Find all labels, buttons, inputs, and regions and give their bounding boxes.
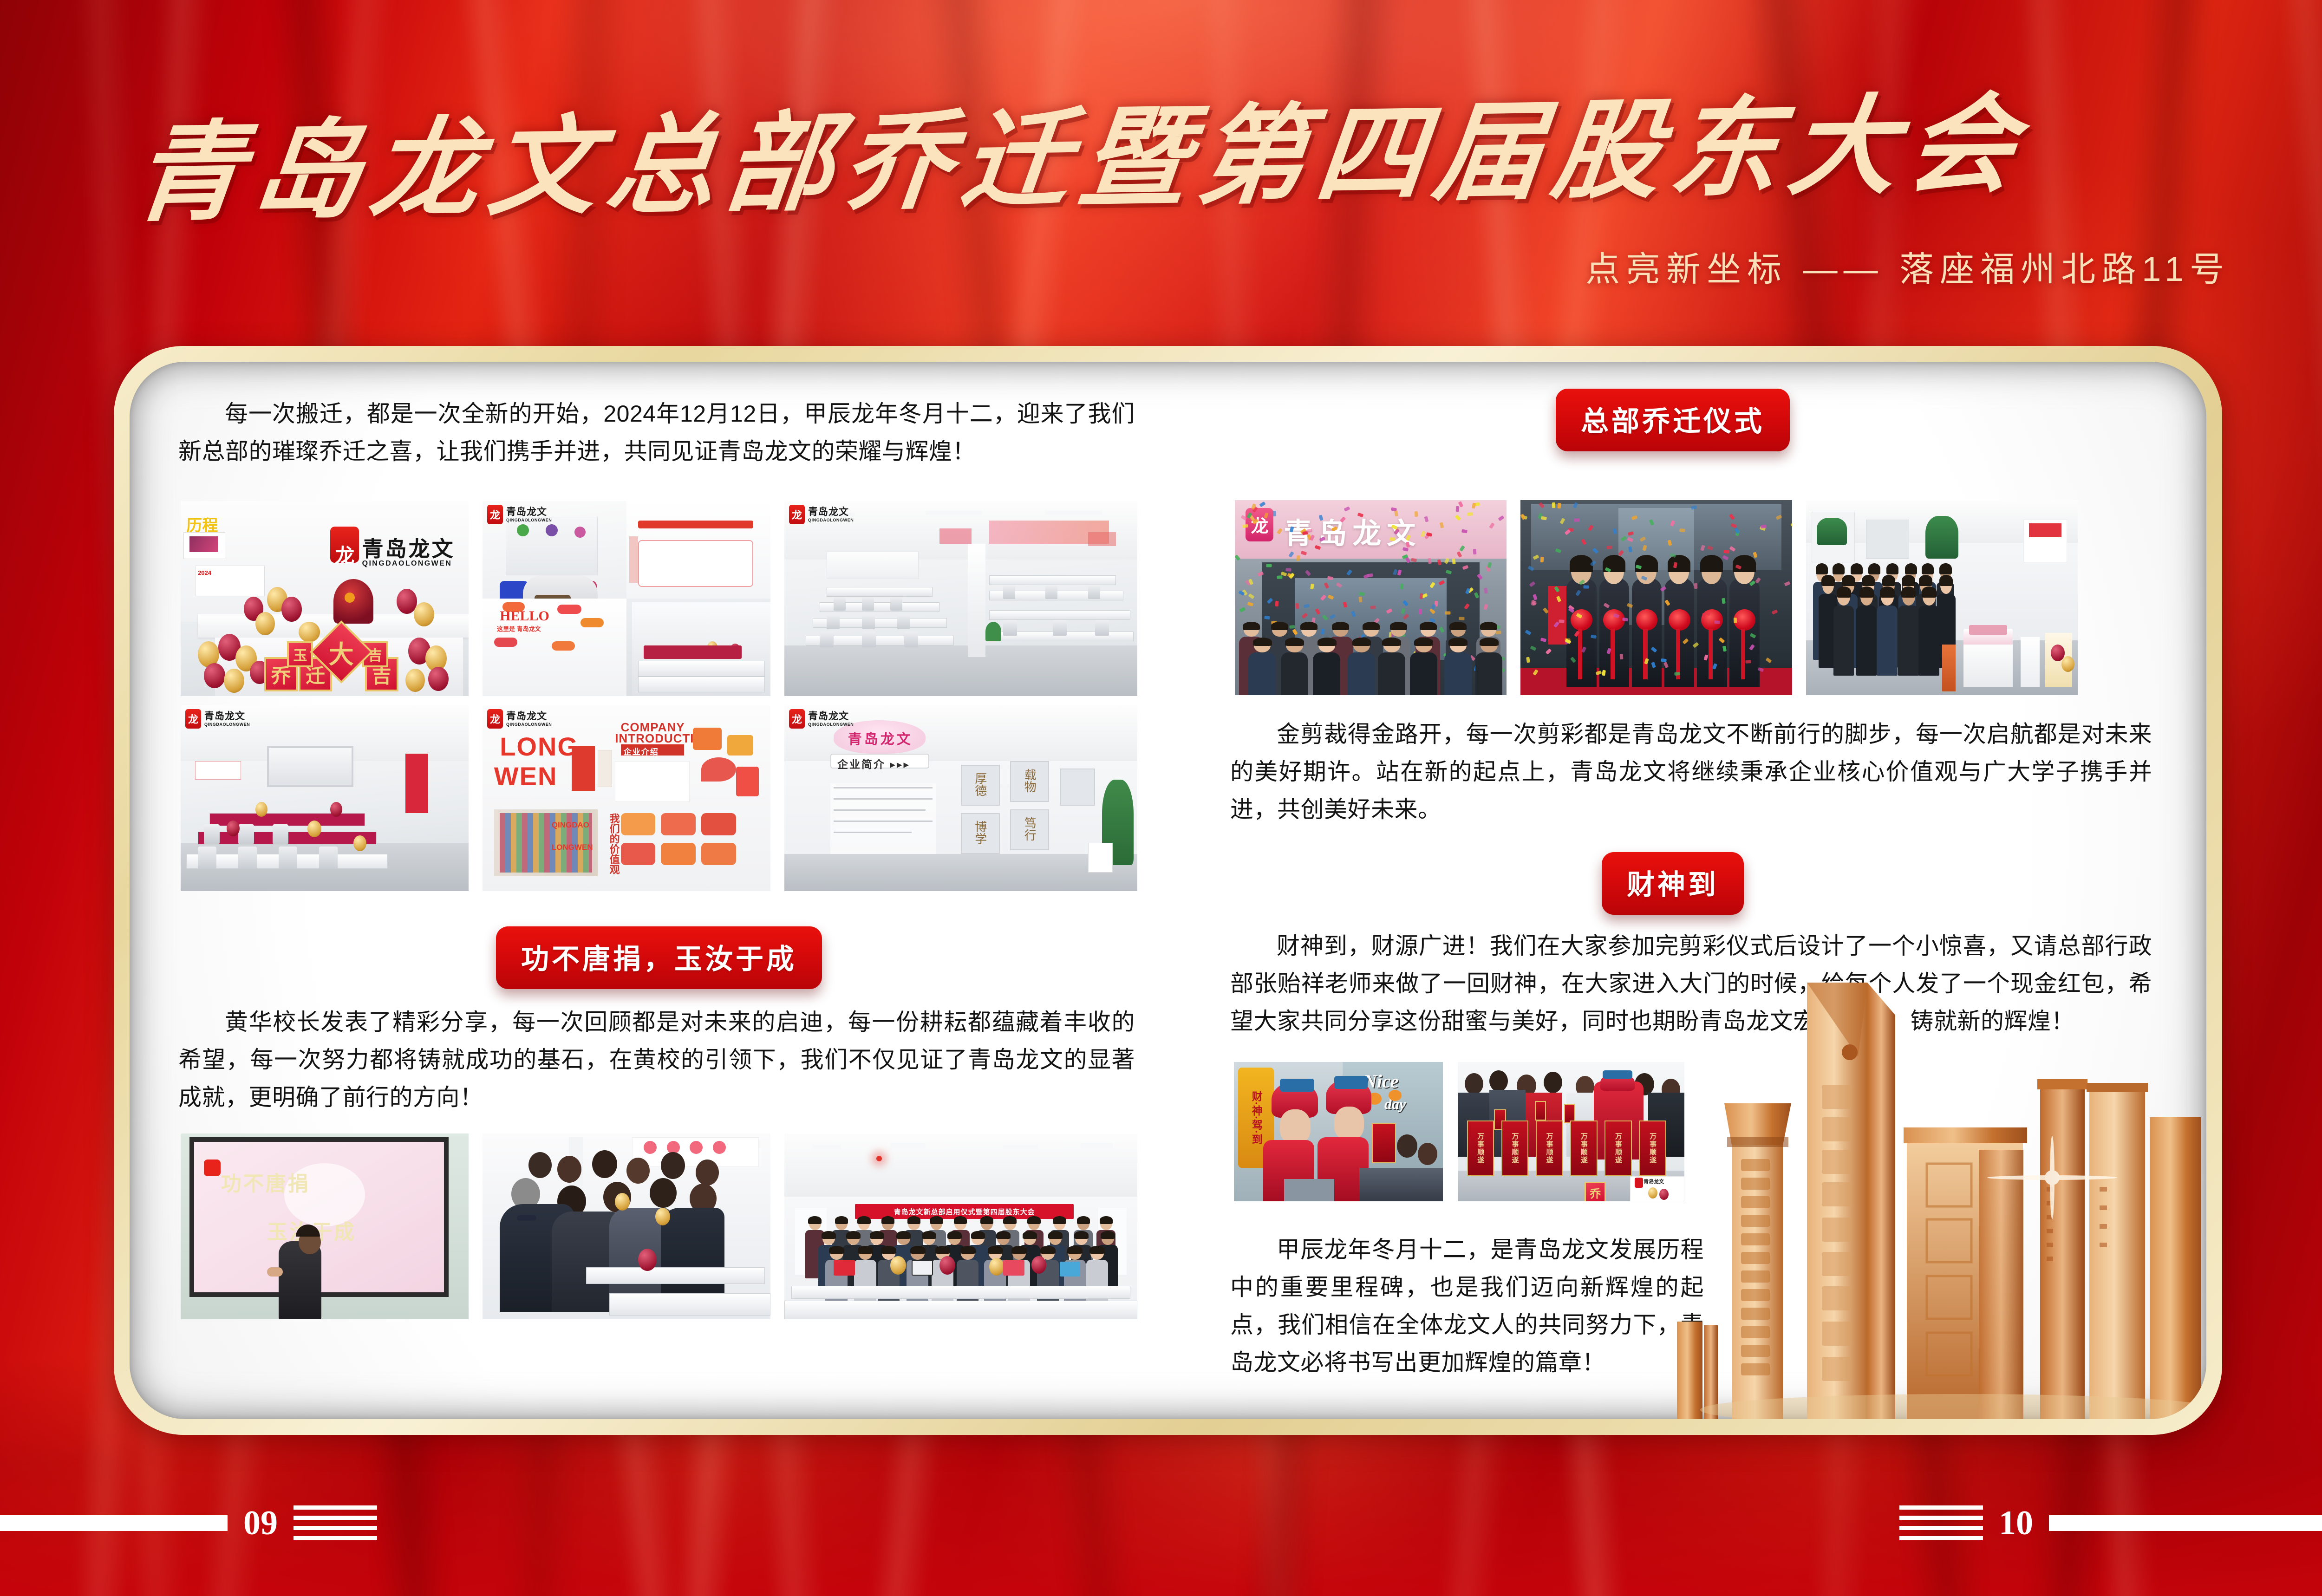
footer-page-left: 09 — [0, 1505, 377, 1540]
content-card-frame: 每一次搬迁，都是一次全新的开始，2024年12月12日，甲辰龙年冬月十二，迎来了… — [114, 346, 2222, 1435]
footer-bar — [2049, 1515, 2322, 1531]
section-label-ceremony: 总部乔迁仪式 — [1556, 389, 1790, 451]
photo-red-packets: 万事顺遂万事顺遂万事顺遂万事顺遂万事顺遂万事顺遂 乔 青岛龙文 — [1458, 1062, 1684, 1201]
photo-logo-badge: 龙青岛龙文QINGDAOLONGWEN — [487, 709, 552, 729]
footer-bar — [0, 1515, 228, 1531]
page-subtitle: 点亮新坐标 —— 落座福州北路11号 — [1585, 241, 2230, 291]
photo-staff-applause — [1806, 500, 2078, 695]
photo-logo-badge: 龙青岛龙文QINGDAOLONGWEN — [789, 709, 854, 729]
poster-header: 青岛龙文总部乔迁暨第四届股东大会 点亮新坐标 —— 落座福州北路11号 — [0, 0, 2322, 325]
photo-logo-badge: 龙青岛龙文QINGDAOLONGWEN — [185, 709, 250, 729]
footer-lines-icon — [294, 1505, 377, 1540]
photo-facade-confetti: 龙 青岛龙文 — [1235, 500, 1507, 695]
photo-logo-badge: 龙青岛龙文QINGDAOLONGWEN — [487, 505, 552, 524]
gongbutangjuan-paragraph: 黄华校长发表了精彩分享，每一次回顾都是对未来的启迪，每一份耕耘都蕴藏着丰收的希望… — [178, 1003, 1135, 1116]
right-column: 总部乔迁仪式 龙 青岛龙文 — [1188, 362, 2206, 1419]
closing-paragraph: 甲辰龙年冬月十二，是青岛龙文发展历程中的重要里程碑，也是我们迈向新辉煌的起点，我… — [1230, 1231, 1704, 1381]
section-label-gongbutangjuan: 功不唐捐，玉汝于成 — [496, 926, 822, 989]
photo-longwen-wall: 龙青岛龙文QINGDAOLONGWEN LONG WEN COMPANY INT… — [483, 705, 770, 891]
photo-group-hall: 青岛龙文新总部启用仪式暨第四届股东大会 — [784, 1133, 1137, 1319]
fortune-paragraph: 财神到，财源广进！我们在大家参加完剪彩仪式后设计了一个小惊喜，又请总部行政部张贻… — [1230, 927, 2152, 1040]
photo-logo-badge: 龙青岛龙文QINGDAOLONGWEN — [789, 505, 854, 524]
page-number-left: 09 — [243, 1506, 278, 1540]
photo-classroom-rows: 龙青岛龙文QINGDAOLONGWEN — [784, 501, 1137, 696]
footer-page-right: 10 — [1899, 1505, 2322, 1540]
photo-stage-speaker: 功不唐捐 玉汝于成 — [181, 1133, 469, 1319]
photo-lounge-wall: 龙青岛龙文QINGDAOLONGWEN HELLO 这里是 青岛龙文 — [483, 501, 770, 696]
intro-paragraph: 每一次搬迁，都是一次全新的开始，2024年12月12日，甲辰龙年冬月十二，迎来了… — [178, 395, 1135, 470]
content-card: 每一次搬迁，都是一次全新的开始，2024年12月12日，甲辰龙年冬月十二，迎来了… — [130, 362, 2206, 1419]
photo-fortune-god: 财·神·驾·到 Nice day — [1234, 1062, 1443, 1201]
page-title: 青岛龙文总部乔迁暨第四届股东大会 — [130, 53, 2219, 216]
photo-meeting-room: 龙青岛龙文QINGDAOLONGWEN — [181, 705, 469, 891]
footer-lines-icon — [1899, 1505, 1983, 1540]
photo-ribbon-cutting — [1520, 500, 1792, 695]
page-number-right: 10 — [1999, 1506, 2033, 1540]
photo-corridor-wall: 龙青岛龙文QINGDAOLONGWEN 青岛龙文 企业简介 ▸▸▸ 厚德 载物 … — [784, 705, 1137, 891]
left-column: 每一次搬迁，都是一次全新的开始，2024年12月12日，甲辰龙年冬月十二，迎来了… — [130, 362, 1188, 1419]
photo-lobby-balloons: 龙 青岛龙文 QINGDAOLONGWEN 历程 2024 — [181, 501, 469, 696]
photo-audience-listening — [483, 1133, 770, 1319]
ceremony-paragraph: 金剪裁得金路开，每一次剪彩都是青岛龙文不断前行的脚步，每一次启航都是对未来的美好… — [1230, 716, 2152, 828]
section-label-fortune: 财神到 — [1602, 852, 1744, 915]
